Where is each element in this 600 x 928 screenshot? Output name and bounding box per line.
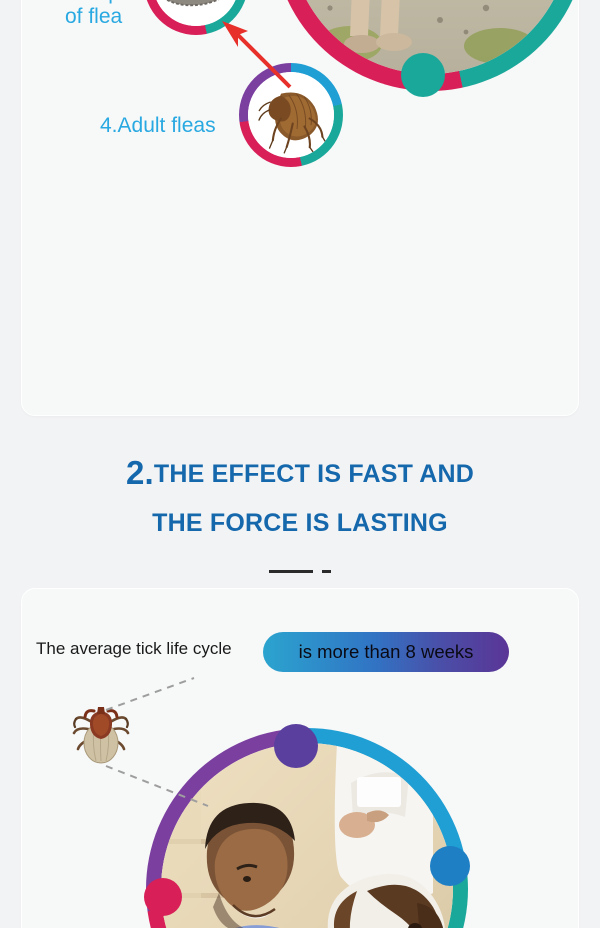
divider-long-dash bbox=[269, 570, 313, 573]
lifecycle-card: 2.Larva 3.Pupa of flea 4.Adult fleas bbox=[21, 0, 579, 416]
heading-text-one: THE EFFECT IS FAST AND bbox=[154, 460, 474, 488]
vet-photo-circle bbox=[146, 728, 468, 928]
dashed-connector-upper bbox=[104, 676, 196, 712]
arrow-pupa-to-adult bbox=[218, 19, 294, 91]
ring-accent-dot-purple bbox=[274, 724, 318, 768]
ring-accent-dot-pink-2 bbox=[144, 878, 182, 916]
section-heading: 2.THE EFFECT IS FAST AND THE FORCE IS LA… bbox=[0, 420, 600, 588]
tick-duration-pill: is more than 8 weeks bbox=[263, 632, 509, 672]
stage-label-adult: 4.Adult fleas bbox=[100, 114, 216, 138]
heading-number: 2. bbox=[126, 454, 154, 491]
heading-line-one: 2.THE EFFECT IS FAST AND bbox=[0, 454, 600, 492]
heading-line-two: THE FORCE IS LASTING bbox=[0, 509, 600, 538]
dashed-connector-lower bbox=[104, 762, 210, 810]
ring-accent-dot-blue-2 bbox=[430, 846, 470, 886]
heading-divider bbox=[0, 570, 600, 573]
divider-short-dash bbox=[322, 570, 331, 573]
ring-accent-dot-teal bbox=[401, 53, 445, 97]
infographic-page: 2.Larva 3.Pupa of flea 4.Adult fleas 2.T… bbox=[0, 0, 600, 928]
stage-label-pupa: 3.Pupa of flea bbox=[65, 0, 132, 28]
tick-sentence-label: The average tick life cycle bbox=[36, 639, 232, 659]
